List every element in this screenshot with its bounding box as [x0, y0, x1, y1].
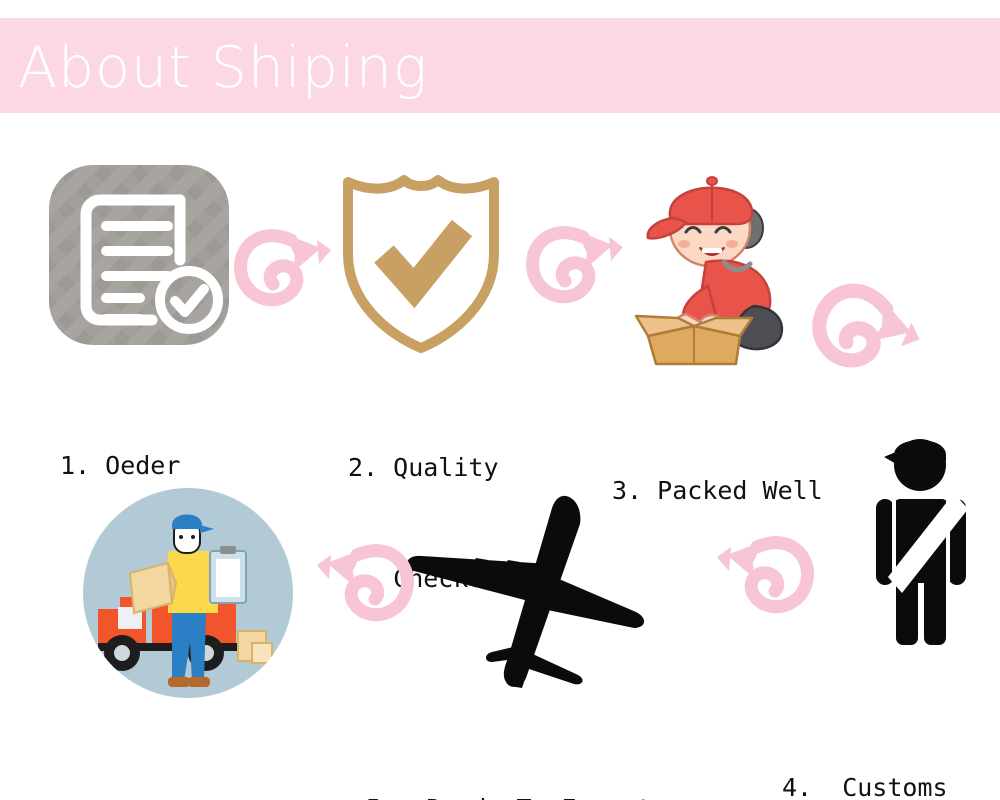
step-label-4: 4. Customs Safe Check: [782, 695, 993, 800]
customs-officer-pictogram: [868, 425, 978, 654]
step-label-5-line-1: 5. Ready To Export: [366, 790, 652, 800]
delivery-truck-circle-illustration: [80, 485, 296, 705]
airplane-silhouette-icon: [400, 492, 685, 694]
swirl-arrow-1-to-2: [233, 218, 343, 323]
shield-check-icon: [336, 162, 506, 358]
step-label-6: 6. Parcel Delivery: [30, 735, 316, 800]
swirl-arrow-3-to-4: [808, 278, 928, 396]
swirl-arrow-2-to-3: [525, 215, 635, 320]
step-label-1-line-1: 1. Oeder: [60, 447, 241, 484]
swirl-arrow-6-to-5: [305, 533, 415, 638]
step-label-5: 5. Ready To Export: [366, 716, 652, 800]
worker-packing-box-illustration: [628, 166, 798, 375]
shipping-process-infographic: About Shiping 1.: [0, 0, 1000, 800]
step-label-2-line-1: 2. Quality: [348, 449, 499, 486]
page-title: About Shiping: [18, 40, 428, 97]
swirl-arrow-5-to-4: [705, 525, 815, 630]
document-check-icon: [48, 164, 230, 350]
step-label-4-line-1: 4. Customs: [782, 769, 993, 800]
